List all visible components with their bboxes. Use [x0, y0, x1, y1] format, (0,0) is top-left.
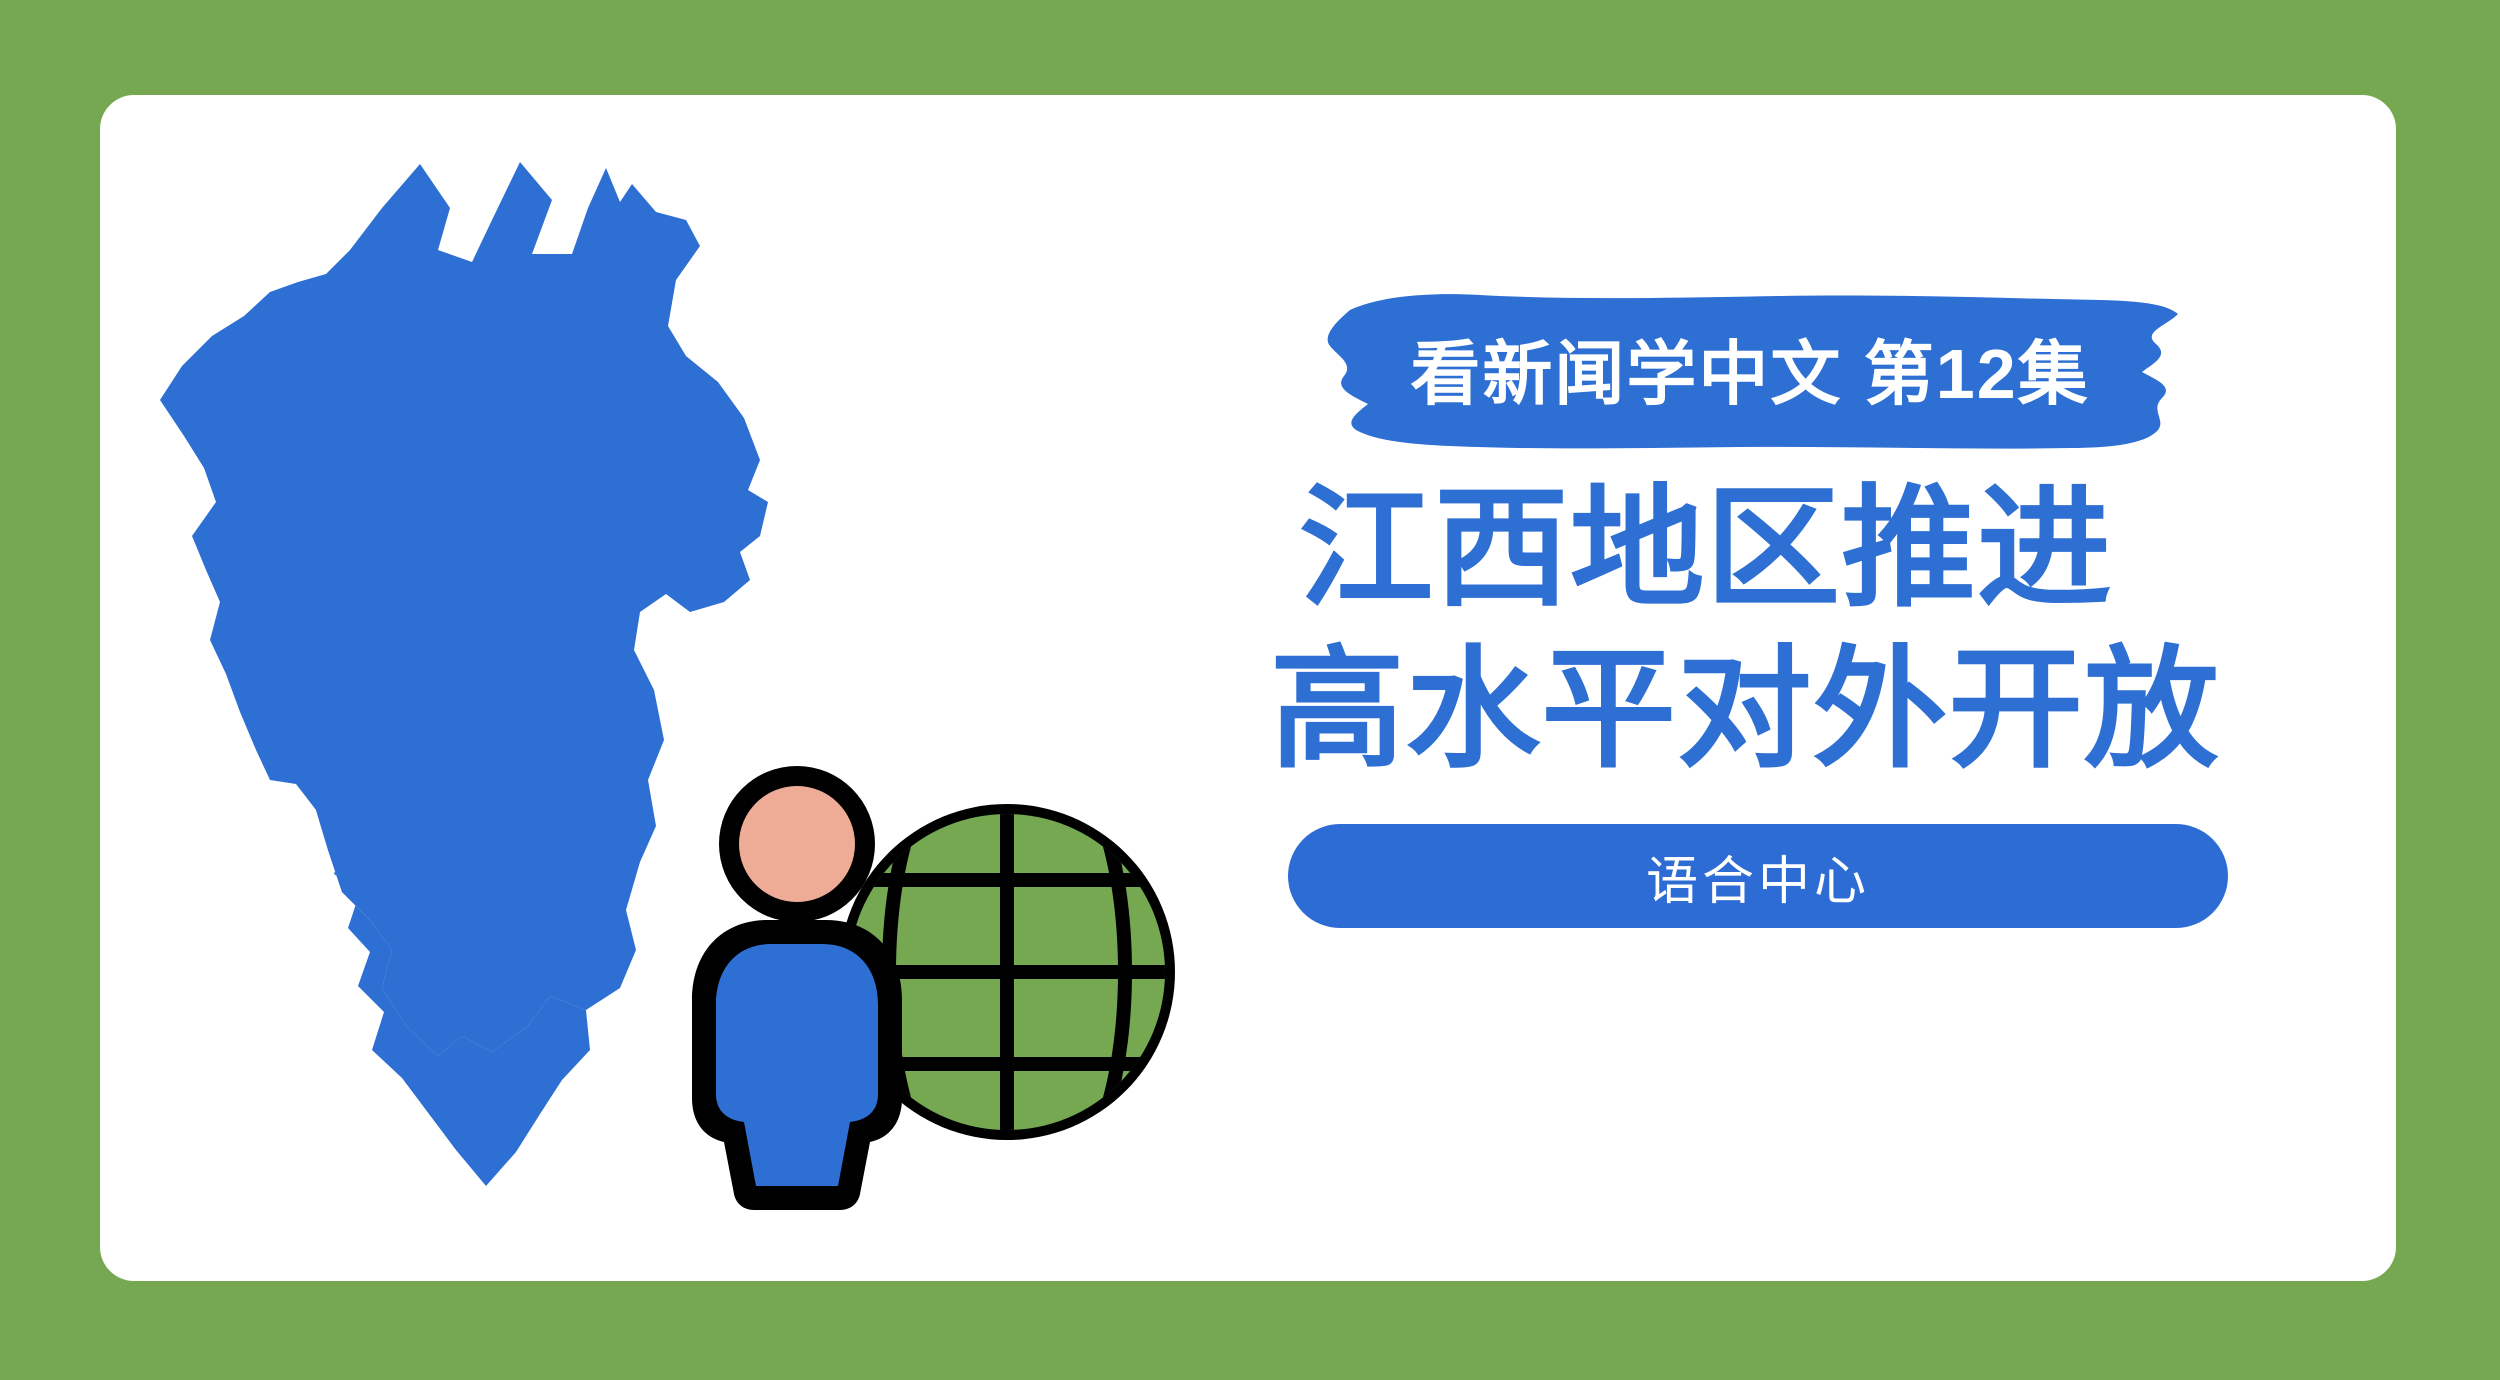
banner-stage: 看新闻学中文 第12集 江西地区推进 高水平对外开放 语合中心: [0, 0, 2500, 1380]
page-title: 江西地区推进 高水平对外开放: [1270, 468, 2310, 790]
episode-badge: 看新闻学中文 第12集: [1310, 280, 2190, 460]
episode-badge-label: 看新闻学中文 第12集: [1310, 280, 2190, 460]
organization-pill[interactable]: 语合中心: [1288, 824, 2228, 928]
organization-pill-label: 语合中心: [1646, 839, 1870, 914]
globe-person-illustration: [672, 732, 1212, 1210]
text-content-column: 看新闻学中文 第12集 江西地区推进 高水平对外开放 语合中心: [1270, 280, 2290, 928]
headline-line-1: 江西地区推进: [1299, 468, 2311, 629]
headline-line-2: 高水平对外开放: [1270, 629, 2310, 790]
person-icon: [692, 766, 902, 1210]
